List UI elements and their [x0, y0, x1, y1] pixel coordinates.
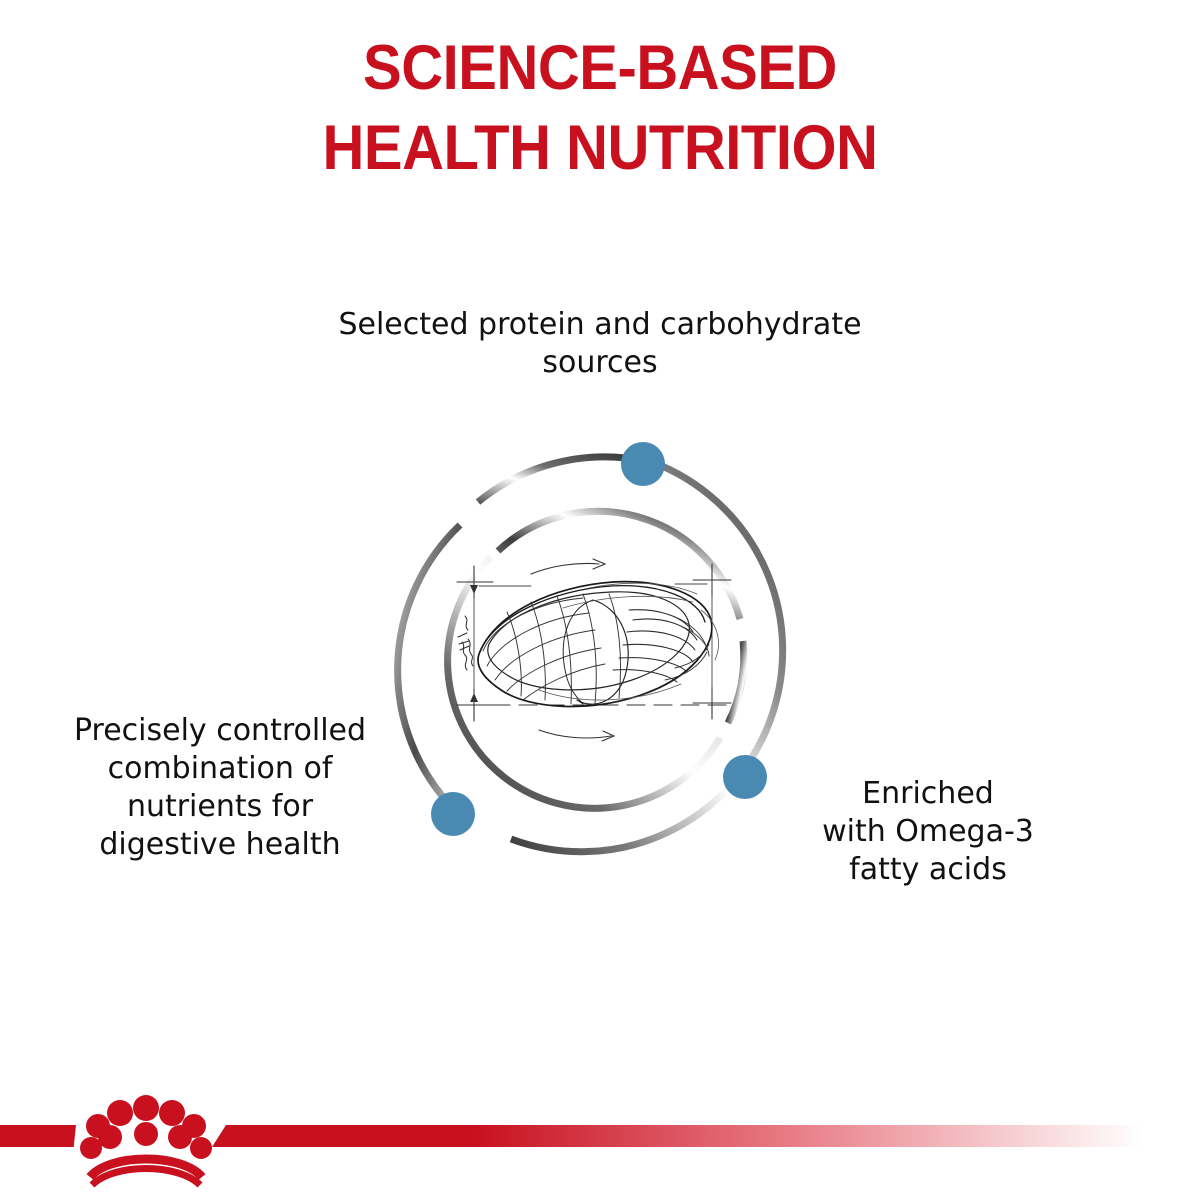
callout-right-line-3: fatty acids	[812, 851, 1044, 889]
promo-infographic-page: SCIENCE-BASED HEALTH NUTRITION Selected …	[0, 0, 1200, 1200]
callout-left-line-3: nutrients for	[30, 788, 410, 826]
callout-top-line-2: sources	[300, 344, 900, 382]
page-title-line-2: HEALTH NUTRITION	[48, 108, 1152, 188]
footer-bar-left	[0, 1125, 76, 1147]
callout-left-line-2: combination of	[30, 750, 410, 788]
callout-right: Enriched with Omega-3 fatty acids	[812, 775, 1044, 889]
kibble-technical-sketch	[443, 550, 743, 750]
callout-left-line-1: Precisely controlled	[30, 712, 410, 750]
crown-dots	[80, 1095, 212, 1159]
orbit-dot-top	[621, 442, 665, 486]
callout-right-line-1: Enriched	[812, 775, 1044, 813]
callout-top-line-1: Selected protein and carbohydrate	[300, 306, 900, 344]
royal-canin-crown-logo	[76, 1095, 216, 1190]
callout-left: Precisely controlled combination of nutr…	[30, 712, 410, 864]
crown-base-arcs	[90, 1159, 202, 1185]
page-title-line-1: SCIENCE-BASED	[48, 28, 1152, 108]
callout-top: Selected protein and carbohydrate source…	[300, 306, 900, 382]
footer-bar-right	[212, 1125, 1142, 1147]
orbit-dot-right	[723, 755, 767, 799]
callout-left-line-4: digestive health	[30, 826, 410, 864]
orbit-dot-bottom-left	[431, 792, 475, 836]
callout-right-line-2: with Omega-3	[812, 813, 1044, 851]
page-title: SCIENCE-BASED HEALTH NUTRITION	[48, 28, 1152, 188]
